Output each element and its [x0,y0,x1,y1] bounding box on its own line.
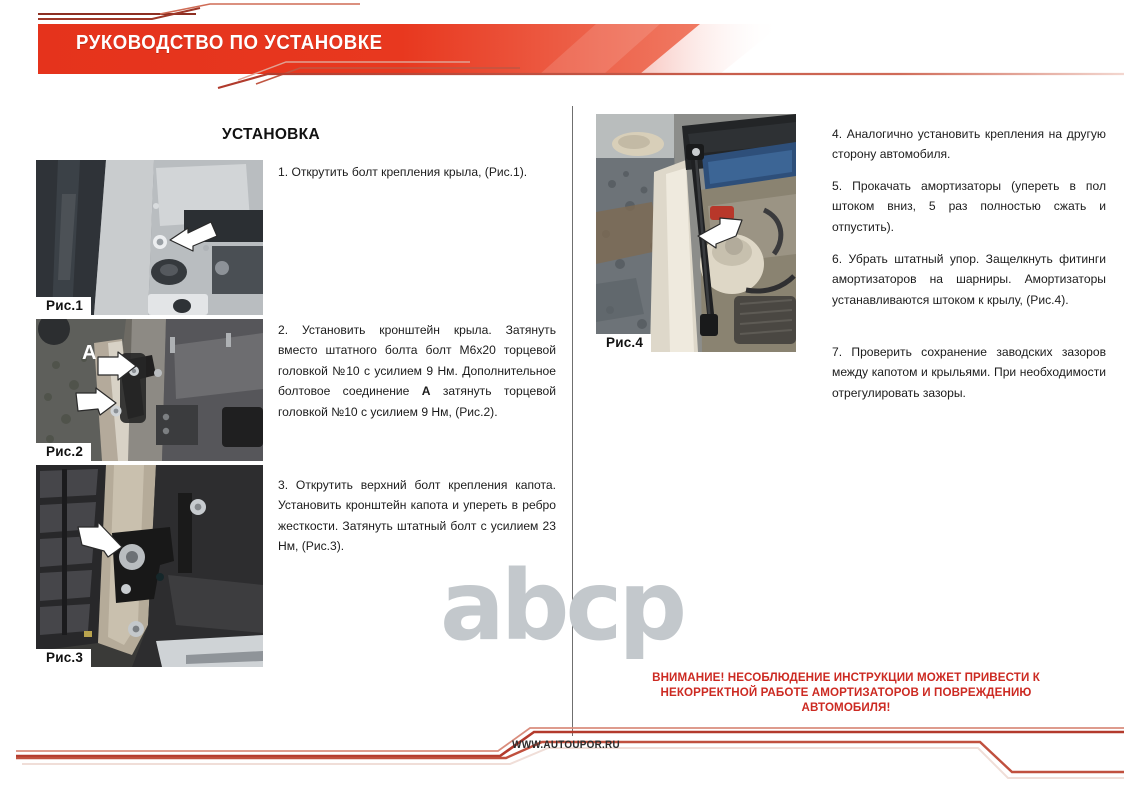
warning-block: ВНИМАНИЕ! НЕСОБЛЮДЕНИЕ ИНСТРУКЦИИ МОЖЕТ … [596,670,1096,715]
step-4-text: 4. Аналогично установить крепления на др… [832,124,1106,165]
footer-url: WWW.AUTOUPOR.RU [57,739,1076,751]
step-2-text: 2. Установить кронштейн крыла. Затянуть … [278,320,556,422]
figure-4-photo [596,114,796,352]
page-content: УСТАНОВКА [0,92,1132,737]
figure-2-marker-A: А [82,342,96,364]
figure-3-photo [36,465,263,667]
abcp-watermark: abcp [440,550,683,662]
page-header: РУКОВОДСТВО ПО УСТАНОВКЕ [0,0,1132,92]
figure-4: Рис.4 [596,114,796,352]
warning-line-3: АВТОМОБИЛЯ! [596,700,1096,715]
step-3-text: 3. Открутить верхний болт крепления капо… [278,475,556,557]
figure-3: Рис.3 [36,465,263,667]
warning-line-2: НЕКОРРЕКТНОЙ РАБОТЕ АМОРТИЗАТОРОВ И ПОВР… [596,685,1096,700]
figure-3-label: Рис.3 [36,649,91,667]
warning-line-1: ВНИМАНИЕ! НЕСОБЛЮДЕНИЕ ИНСТРУКЦИИ МОЖЕТ … [596,670,1096,685]
step-7-text: 7. Проверить сохранение заводских зазоро… [832,342,1106,403]
step-5-text: 5. Прокачать амортизаторы (упереть в пол… [832,176,1106,237]
figure-1-photo [36,160,263,315]
figure-4-frame: Рис.4 [596,114,796,352]
page-footer: WWW.AUTOUPOR.RU [0,720,1132,800]
section-heading: УСТАНОВКА [222,126,320,144]
figure-2: А Рис.2 [36,319,263,461]
step-1-text: 1. Открутить болт крепления крыла, (Рис.… [278,162,556,182]
step-6-text: 6. Убрать штатный упор. Защелкнуть фитин… [832,249,1106,310]
figure-1-label: Рис.1 [36,297,91,315]
figure-2-photo: А [36,319,263,461]
figure-2-label: Рис.2 [36,443,91,461]
page-title: РУКОВОДСТВО ПО УСТАНОВКЕ [76,32,383,55]
figure-1: Рис.1 [36,160,263,315]
footer-banner-graphic [0,720,1132,800]
figure-4-label: Рис.4 [596,334,651,352]
